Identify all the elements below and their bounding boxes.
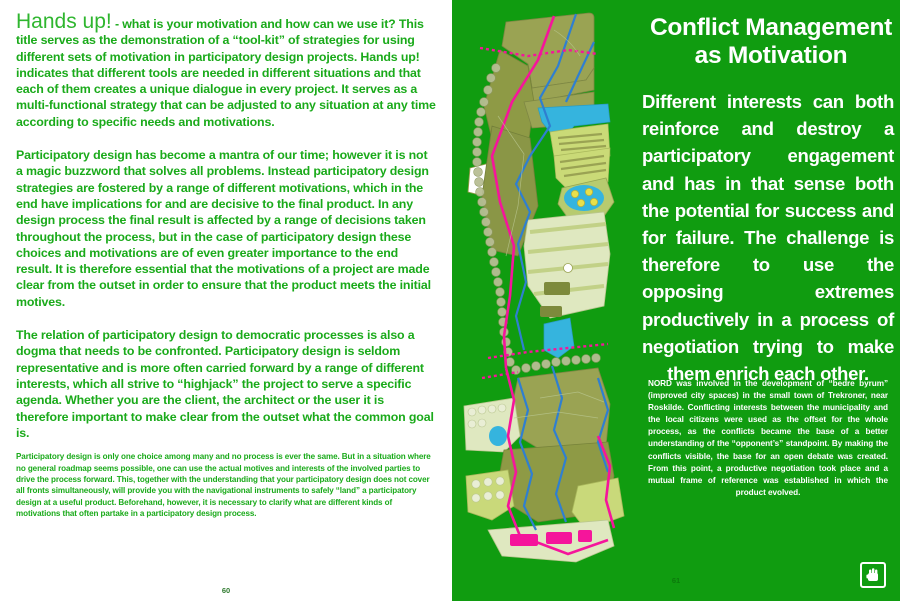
page-headline: Hands up!: [16, 10, 112, 33]
lead-paragraph: Hands up! - what is your motivation and …: [16, 14, 436, 130]
page-number-left: 60: [0, 586, 452, 595]
body-paragraph-2: The relation of participatory design to …: [16, 327, 436, 441]
headline-continuation: - what is your motivation and how can we…: [16, 17, 436, 129]
page-number-right: 61: [452, 576, 900, 585]
body-paragraph-1: Participatory design has become a mantra…: [16, 147, 436, 310]
right-page: Conflict Management as Motivation Differ…: [452, 0, 900, 601]
case-study-text: NORD was involved in the development of …: [648, 378, 888, 499]
lead-statement: Different interests can both reinforce a…: [642, 88, 894, 387]
fist-glyph: [865, 566, 881, 584]
paragraph-spacer: [16, 140, 436, 147]
fine-print-paragraph: Participatory design is only one choice …: [16, 451, 436, 519]
site-plan-map: [458, 6, 644, 586]
page-title: Conflict Management as Motivation: [648, 14, 894, 70]
hands-up-fist-icon: [860, 562, 886, 588]
paragraph-spacer: [16, 320, 436, 327]
book-spread: Hands up! - what is your motivation and …: [0, 0, 900, 601]
left-page: Hands up! - what is your motivation and …: [0, 0, 452, 601]
map-parcels: [464, 13, 624, 562]
site-plan-svg: [458, 6, 644, 586]
